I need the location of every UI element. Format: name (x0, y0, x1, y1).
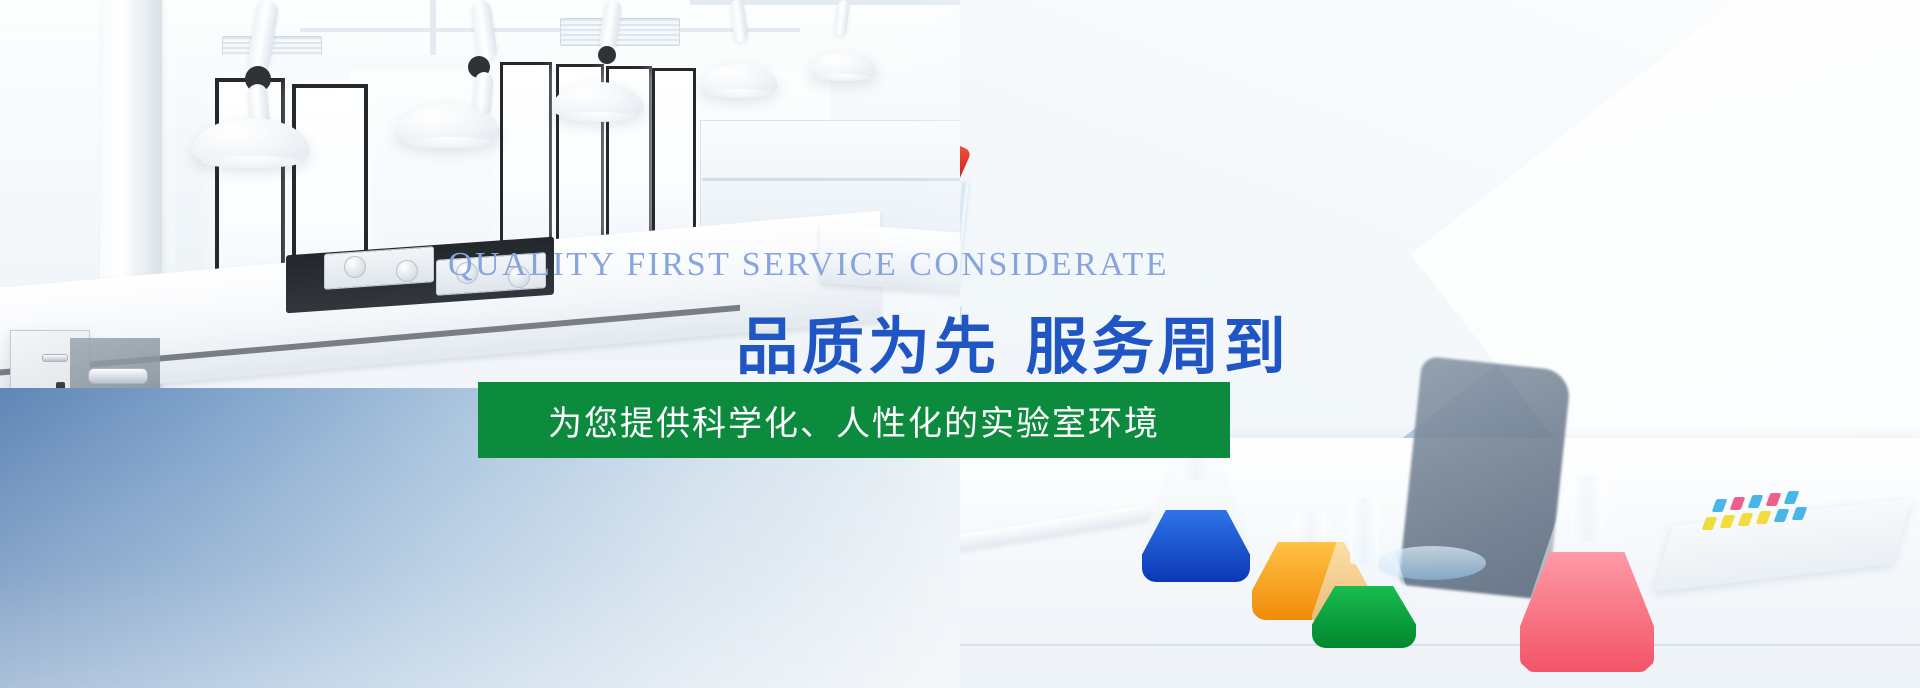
hero-banner: QUALITY FIRST SERVICE CONSIDERATE 品质为先 服… (0, 0, 1920, 688)
banner-headline: 品质为先 服务周到 (736, 296, 1290, 386)
arm-joint (598, 46, 616, 64)
window (500, 62, 552, 244)
ceiling-seam (300, 28, 800, 32)
drawer-handle (88, 368, 148, 384)
service-knob (396, 260, 418, 282)
subtitle-text: 为您提供科学化、人性化的实验室环境 (548, 396, 1160, 445)
ceiling-vent (560, 18, 680, 46)
bench-edge-line (960, 644, 1920, 646)
service-knob (344, 256, 366, 278)
english-tagline: QUALITY FIRST SERVICE CONSIDERATE (448, 246, 1248, 284)
window (652, 68, 696, 238)
cabinet-handle (42, 354, 68, 362)
flask-pink (1520, 476, 1654, 672)
flask-green (1312, 498, 1416, 648)
subtitle-green-bar: 为您提供科学化、人性化的实验室环境 (478, 382, 1230, 458)
